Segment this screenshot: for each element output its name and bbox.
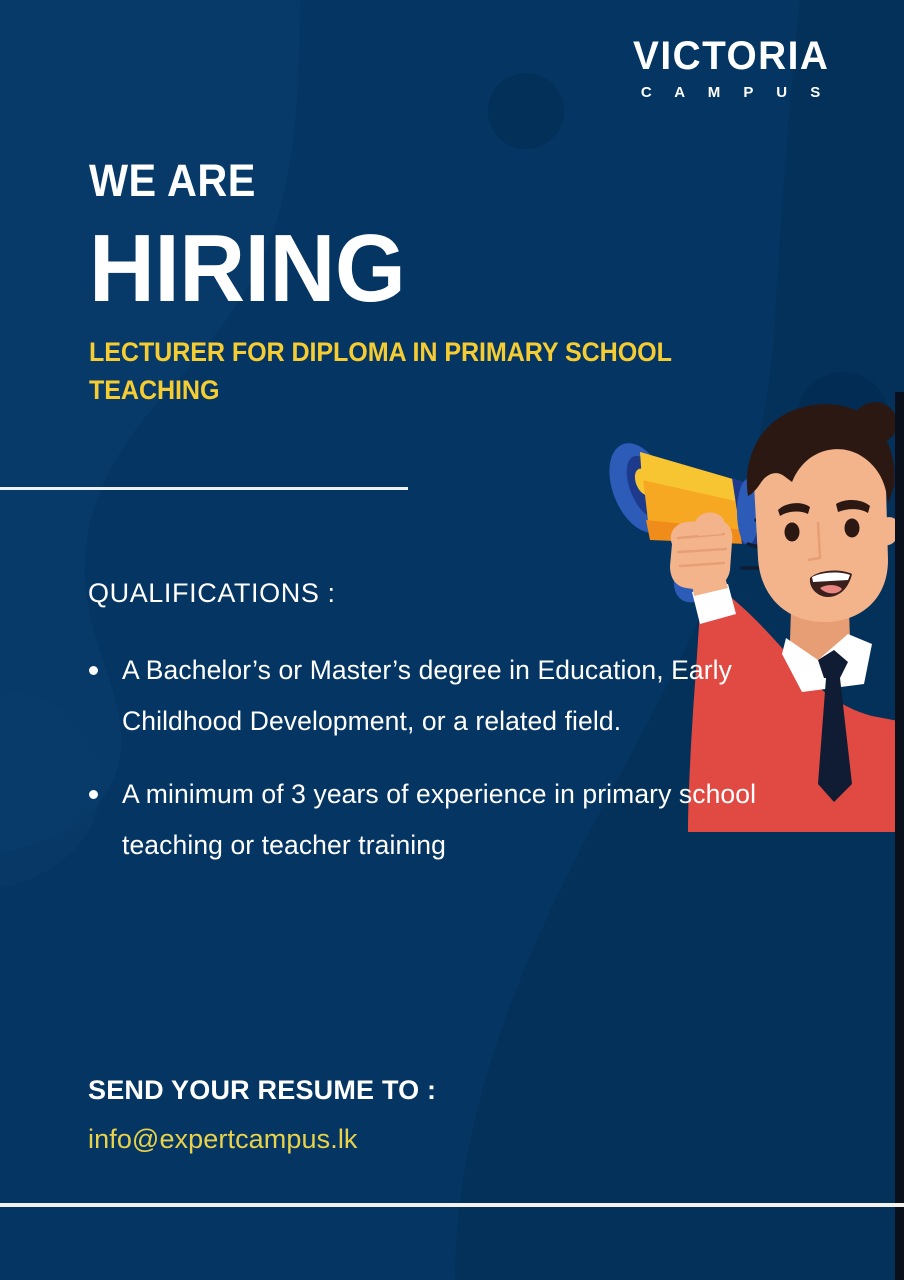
contact-label: SEND YOUR RESUME TO : [88, 1077, 436, 1104]
headline-eyebrow: WE ARE [89, 158, 696, 203]
brand-logo-name: VICTORIA [633, 36, 829, 76]
qualifications-list: A Bachelor’s or Master’s degree in Educa… [88, 645, 788, 871]
job-title: LECTURER FOR DIPLOMA IN PRIMARY SCHOOL T… [89, 333, 703, 410]
bullet-icon [89, 790, 98, 799]
list-item-text: A minimum of 3 years of experience in pr… [122, 779, 756, 860]
list-item: A minimum of 3 years of experience in pr… [88, 769, 782, 871]
hiring-poster: VICTORIA C A M P U S WE ARE HIRING LECTU… [0, 0, 904, 1280]
qualifications-heading: QUALIFICATIONS : [88, 580, 788, 607]
headline-block: WE ARE HIRING LECTURER FOR DIPLOMA IN PR… [89, 158, 749, 410]
divider-top [0, 487, 408, 490]
contact-section: SEND YOUR RESUME TO : info@expertcampus.… [88, 1077, 436, 1153]
list-item-text: A Bachelor’s or Master’s degree in Educa… [122, 655, 732, 736]
brand-logo-subtitle: C A M P U S [630, 85, 832, 100]
contact-email[interactable]: info@expertcampus.lk [88, 1126, 436, 1153]
brand-logo: VICTORIA C A M P U S [630, 36, 832, 100]
list-item: A Bachelor’s or Master’s degree in Educa… [88, 645, 782, 747]
bullet-icon [89, 666, 98, 675]
right-edge-strip [895, 392, 904, 1280]
qualifications-section: QUALIFICATIONS : A Bachelor’s or Master’… [88, 580, 788, 893]
headline-main: HIRING [89, 221, 716, 317]
divider-bottom [0, 1203, 904, 1207]
